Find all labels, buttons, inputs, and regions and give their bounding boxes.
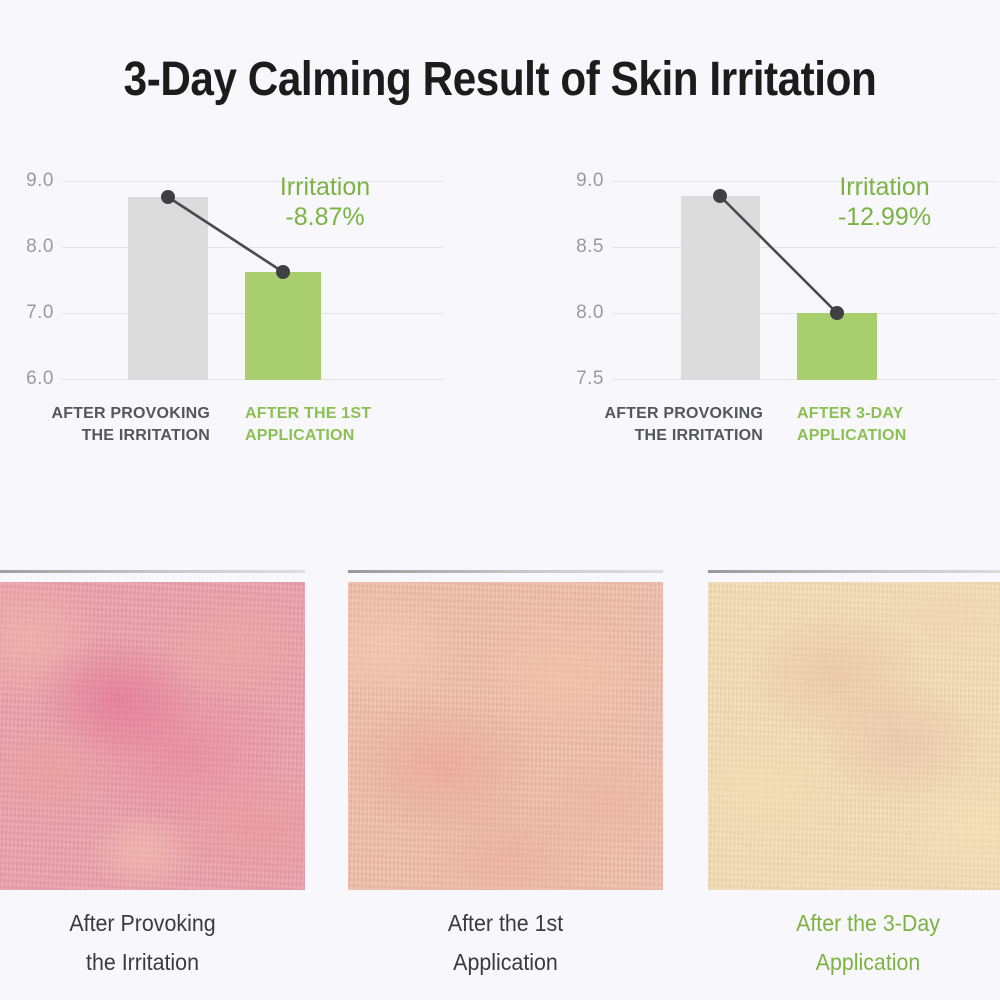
ytick-left-1: 8.0: [8, 236, 54, 258]
category-label-right-three-day-application: AFTER 3-DAY APPLICATION: [797, 403, 977, 447]
chart-right-plot: 9.0 8.5 8.0 7.5 Irritation -12.99% AFTER…: [530, 160, 1000, 400]
category-label-right-provoked: AFTER PROVOKING THE IRRITATION: [598, 403, 763, 447]
chart-left-plot: 9.0 8.0 7.0 6.0 Irritation -8.87% AFTER …: [0, 160, 470, 400]
chart-left: 9.0 8.0 7.0 6.0 Irritation -8.87% AFTER …: [0, 160, 470, 460]
annotation-left-title: Irritation: [280, 173, 370, 201]
skin-comparison-section: After Provoking the Irritation After the…: [0, 560, 1000, 1000]
panel-rule-icon: [348, 570, 663, 573]
annotation-right-title: Irritation: [839, 173, 929, 201]
skin-image-first-application: [348, 582, 663, 890]
skin-caption-provoked: After Provoking the Irritation: [0, 904, 294, 982]
charts-section: 9.0 8.0 7.0 6.0 Irritation -8.87% AFTER …: [0, 160, 1000, 460]
ytick-left-3: 6.0: [8, 368, 54, 390]
gridline-8-5-right: [612, 247, 998, 248]
annotation-left-value: -8.87%: [250, 202, 400, 232]
ytick-left-0: 9.0: [8, 170, 54, 192]
skin-image-three-day-application: [708, 582, 1000, 890]
bar-left-provoked: [128, 197, 208, 380]
annotation-left: Irritation -8.87%: [250, 172, 400, 232]
annotation-right-value: -12.99%: [802, 202, 967, 232]
bar-right-three-day-application: [797, 313, 877, 380]
bar-right-provoked: [681, 196, 760, 380]
panel-rule-icon: [0, 570, 305, 573]
ytick-right-1: 8.5: [558, 236, 604, 258]
page-title: 3-Day Calming Result of Skin Irritation: [60, 52, 940, 107]
gridline-8-0: [62, 247, 443, 248]
panel-rule-icon: [708, 570, 1000, 573]
ytick-left-2: 7.0: [8, 302, 54, 324]
bar-left-first-application: [245, 272, 321, 380]
category-label-left-provoked: AFTER PROVOKING THE IRRITATION: [45, 403, 210, 447]
ytick-right-3: 7.5: [558, 368, 604, 390]
ytick-right-2: 8.0: [558, 302, 604, 324]
skin-caption-first-application: After the 1st Application: [359, 904, 652, 982]
skin-image-provoked: [0, 582, 305, 890]
skin-caption-three-day-application: After the 3-Day Application: [719, 904, 1000, 982]
annotation-right: Irritation -12.99%: [802, 172, 967, 232]
category-label-left-first-application: AFTER THE 1ST APPLICATION: [245, 403, 425, 447]
ytick-right-0: 9.0: [558, 170, 604, 192]
chart-right: 9.0 8.5 8.0 7.5 Irritation -12.99% AFTER…: [530, 160, 1000, 460]
